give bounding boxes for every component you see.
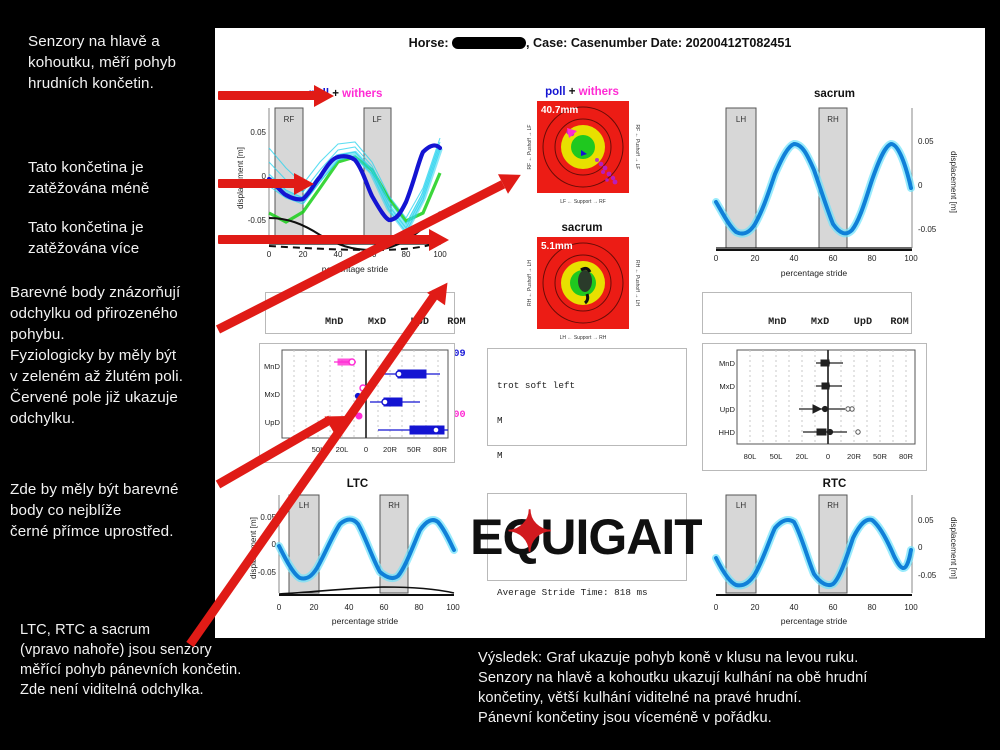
svg-text:-0.05: -0.05 — [918, 225, 937, 234]
svg-text:UpD: UpD — [720, 405, 736, 414]
polar-poll-withers-svg: 40.7mm RF ← Pushoff → LF RF ← Pushoff → … — [497, 98, 667, 218]
svg-text:100: 100 — [904, 603, 918, 612]
rtc-svg: LH RH 0.05 0 -0.05 0 20 40 60 80 100 dis… — [702, 490, 967, 630]
svg-text:0.05: 0.05 — [250, 128, 266, 137]
svg-text:80L: 80L — [744, 452, 757, 461]
svg-text:0.05: 0.05 — [918, 516, 934, 525]
case-date-text: , Case: Casenumber Date: 20200412T082451 — [526, 36, 791, 50]
svg-text:80: 80 — [415, 603, 424, 612]
polar-sacrum-svg: 5.1mm RH ← Pushoff → LH RH ← Pushoff → L… — [497, 234, 667, 352]
svg-text:RH ← Pushoff → LH: RH ← Pushoff → LH — [527, 260, 533, 306]
svg-text:80: 80 — [868, 254, 877, 263]
anno-colored-points: Barevné body znázorňují odchylku od přir… — [10, 283, 225, 430]
table-pelvis-asymmetry: MnD MxD UpD ROM Pelvis 2L 2L 3L 114 L/Rt… — [702, 292, 912, 334]
logo-q-blot: ✦ — [506, 504, 550, 572]
arrow-to-poll-withers — [218, 84, 338, 108]
panel-sacrum-curve: sacrum LH RH 0.05 0 -0.05 0 20 40 60 80 … — [702, 86, 967, 296]
redacted-horse-name — [452, 37, 526, 49]
svg-text:40: 40 — [345, 603, 354, 612]
svg-text:RH ← Pushoff → LH: RH ← Pushoff → LH — [634, 260, 640, 306]
svg-text:20: 20 — [751, 254, 760, 263]
svg-text:20R: 20R — [383, 445, 397, 454]
rtc-title: RTC — [702, 478, 967, 490]
info-stride-time: Average Stride Time: 818 ms — [497, 587, 677, 599]
report-header: Horse: , Case: Casenumber Date: 20200412… — [215, 36, 985, 50]
hind-boxplot-svg: MnD MxD UpD HHD 80L 5 — [703, 344, 926, 470]
pelvis-table-header: MnD MxD UpD ROM — [707, 318, 907, 329]
panel-hind-boxplot: MnD MxD UpD HHD 80L 5 — [702, 343, 927, 471]
info-line2: M — [497, 415, 677, 427]
svg-text:80R: 80R — [433, 445, 447, 454]
svg-text:50R: 50R — [873, 452, 887, 461]
svg-text:RH: RH — [827, 501, 839, 510]
svg-text:MxD: MxD — [264, 390, 280, 399]
svg-text:40: 40 — [790, 603, 799, 612]
svg-text:0: 0 — [714, 254, 719, 263]
arrow-to-polar-plot — [218, 325, 219, 326]
anno-points-close: Zde by měly být barevné body co nejblíže… — [10, 480, 225, 543]
panel-ltc-curve: LTC LH RH 0.05 0 -0.05 0 20 40 60 80 100… — [245, 478, 470, 633]
arrow-to-limb-less — [218, 172, 328, 196]
svg-text:20: 20 — [310, 603, 319, 612]
polar-title-poll: poll — [545, 86, 565, 98]
svg-text:50L: 50L — [770, 452, 783, 461]
svg-text:MnD: MnD — [719, 359, 736, 368]
svg-text:percentage stride: percentage stride — [332, 616, 399, 626]
panel-logo: EQUIGAIT ✦ — [487, 493, 687, 581]
svg-text:HHD: HHD — [719, 428, 736, 437]
svg-text:0: 0 — [364, 445, 368, 454]
arrow-to-limb-more — [218, 228, 458, 252]
svg-text:RF: RF — [284, 115, 295, 124]
svg-text:RH: RH — [388, 501, 400, 510]
info-line3: M — [497, 450, 677, 462]
svg-text:80R: 80R — [899, 452, 913, 461]
svg-text:displacement [m]: displacement [m] — [949, 517, 958, 579]
info-line1: trot soft left — [497, 380, 677, 392]
svg-text:0: 0 — [714, 603, 719, 612]
svg-text:LH: LH — [736, 501, 746, 510]
polar-sacrum-value-text: 5.1mm — [541, 241, 573, 252]
anno-ltc-rtc: LTC, RTC a sacrum (vpravo nahoře) jsou s… — [20, 620, 320, 701]
arrow-to-front-boxplot — [218, 480, 219, 481]
svg-text:UpD: UpD — [265, 418, 281, 427]
svg-text:-0.05: -0.05 — [248, 216, 267, 225]
svg-text:RF ← Pushoff → LF: RF ← Pushoff → LF — [634, 125, 640, 170]
anno-result: Výsledek: Graf ukazuje pohyb koně v klus… — [478, 648, 998, 729]
svg-text:LH ← Support → RH: LH ← Support → RH — [560, 335, 607, 341]
arrow-to-sacrum-region — [190, 640, 191, 641]
polar-title-withers: withers — [579, 86, 619, 98]
svg-text:-0.05: -0.05 — [258, 568, 277, 577]
equigait-logo: EQUIGAIT ✦ — [470, 512, 704, 562]
panel-trial-info: trot soft left M M Trial Numbers: 7 8 9 … — [487, 348, 687, 446]
svg-text:20L: 20L — [336, 445, 349, 454]
horse-label: Horse: — [409, 36, 449, 50]
title-withers: withers — [342, 88, 382, 100]
svg-text:20R: 20R — [847, 452, 861, 461]
svg-text:LF ← Support → RF: LF ← Support → RF — [560, 199, 606, 205]
svg-text:RH: RH — [827, 115, 839, 124]
svg-text:0: 0 — [277, 603, 282, 612]
svg-text:-0.05: -0.05 — [918, 571, 937, 580]
svg-text:60: 60 — [380, 603, 389, 612]
ltc-title: LTC — [245, 478, 470, 490]
anno-limb-less: Tato končetina je zatěžována méně — [28, 158, 223, 200]
anno-limb-more: Tato končetina je zatěžována více — [28, 218, 223, 260]
svg-text:60: 60 — [829, 603, 838, 612]
svg-text:100: 100 — [446, 603, 460, 612]
svg-text:MnD: MnD — [264, 362, 281, 371]
svg-text:RF ← Pushoff → LF: RF ← Pushoff → LF — [527, 125, 533, 170]
svg-text:LH: LH — [736, 115, 746, 124]
panel-polar-plots: poll + withers 40.7mm RF ← Pushoff → LF … — [497, 86, 667, 361]
svg-text:LH: LH — [299, 501, 309, 510]
svg-text:80: 80 — [868, 603, 877, 612]
sacrum-curve-title: sacrum — [702, 86, 967, 100]
svg-text:40: 40 — [790, 254, 799, 263]
svg-text:LF: LF — [372, 115, 381, 124]
svg-text:0.05: 0.05 — [918, 137, 934, 146]
svg-text:percentage stride: percentage stride — [781, 268, 848, 278]
trial-info-text: trot soft left M M Trial Numbers: 7 8 9 … — [497, 357, 677, 621]
svg-text:20L: 20L — [796, 452, 809, 461]
report-sheet: Horse: , Case: Casenumber Date: 20200412… — [215, 28, 985, 638]
svg-text:0: 0 — [826, 452, 830, 461]
svg-text:0: 0 — [918, 543, 923, 552]
svg-text:percentage stride: percentage stride — [781, 616, 848, 626]
panel-rtc-curve: RTC LH RH 0.05 0 -0.05 0 20 40 60 80 100… — [702, 478, 967, 633]
anno-sensors-head: Senzory na hlavě a kohoutku, měří pohyb … — [28, 32, 223, 95]
polar-poll-withers-title: poll + withers — [497, 86, 667, 98]
svg-text:20: 20 — [751, 603, 760, 612]
sacrum-svg: LH RH 0.05 0 -0.05 0 20 40 60 80 100 dis… — [702, 100, 967, 292]
svg-text:displacement [m]: displacement [m] — [949, 151, 958, 213]
svg-text:100: 100 — [904, 254, 918, 263]
svg-text:MxD: MxD — [719, 382, 735, 391]
svg-text:50R: 50R — [407, 445, 421, 454]
svg-text:0: 0 — [918, 181, 923, 190]
svg-text:60: 60 — [829, 254, 838, 263]
polar-poll-withers-value-text: 40.7mm — [541, 105, 578, 116]
polar-title-plus: + — [569, 86, 576, 98]
polar-sacrum-title: sacrum — [497, 222, 667, 234]
